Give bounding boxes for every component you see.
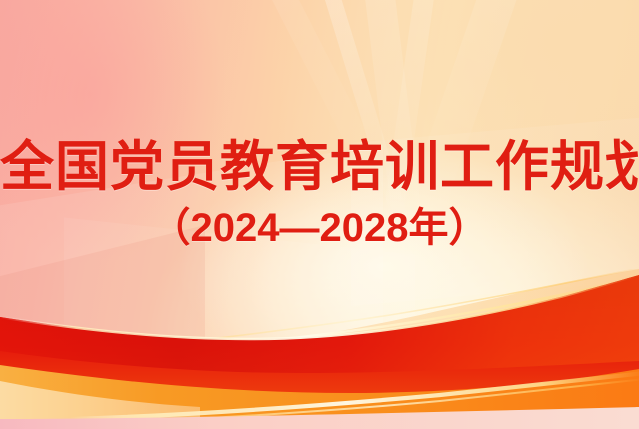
poster-canvas: 全国党员教育培训工作规划 （2024—2028年） bbox=[0, 0, 639, 429]
page-title: 全国党员教育培训工作规划 bbox=[0, 138, 639, 196]
title-block: 全国党员教育培训工作规划 （2024—2028年） bbox=[0, 138, 639, 250]
page-subtitle: （2024—2028年） bbox=[0, 206, 639, 250]
ribbon-wave-decoration bbox=[0, 269, 639, 429]
